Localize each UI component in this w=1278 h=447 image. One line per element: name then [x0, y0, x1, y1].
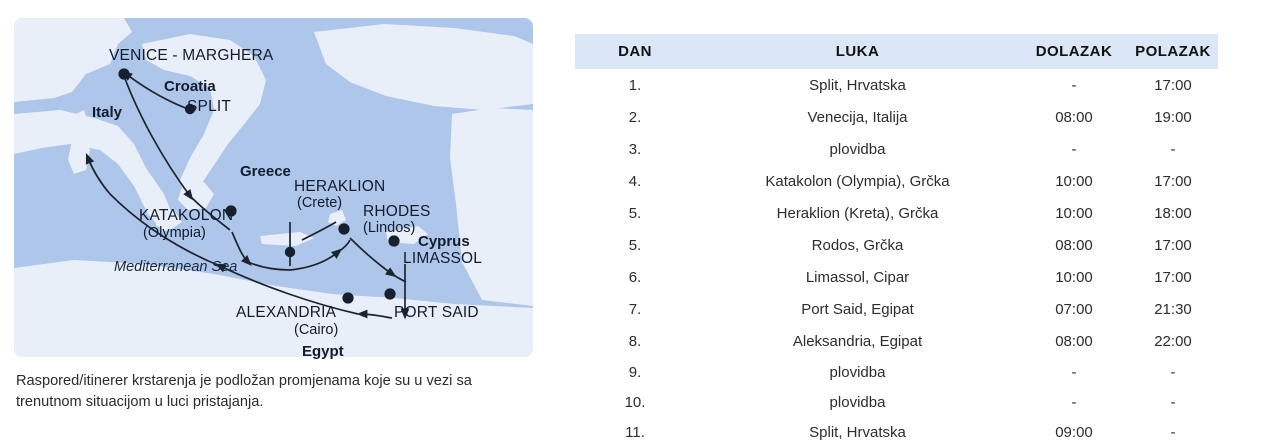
cell-luka: Venecija, Italija	[695, 101, 1020, 133]
cell-dan: 9.	[575, 357, 695, 387]
cell-dolazak: 10:00	[1020, 261, 1128, 293]
cell-luka: Split, Hrvatska	[695, 417, 1020, 447]
cell-luka: plovidba	[695, 357, 1020, 387]
cell-dolazak: 07:00	[1020, 293, 1128, 325]
itinerary-table-head: DAN LUKA DOLAZAK POLAZAK	[575, 34, 1218, 69]
cell-luka: Heraklion (Kreta), Grčka	[695, 197, 1020, 229]
cell-polazak: 19:00	[1128, 101, 1218, 133]
cell-luka: Port Said, Egipat	[695, 293, 1020, 325]
cell-dolazak: 10:00	[1020, 165, 1128, 197]
cell-dan: 8.	[575, 325, 695, 357]
port-dot-heraklion	[285, 247, 295, 257]
cell-dolazak: 08:00	[1020, 229, 1128, 261]
cruise-route-map	[14, 18, 533, 357]
port-dot-alexandria	[342, 292, 353, 303]
cell-dan: 4.	[575, 165, 695, 197]
port-dot-katakolon	[225, 205, 236, 216]
cell-dan: 3.	[575, 133, 695, 165]
table-row: 6.Limassol, Cipar10:0017:00	[575, 261, 1218, 293]
cell-dan: 5.	[575, 197, 695, 229]
cell-luka: plovidba	[695, 133, 1020, 165]
cell-dolazak: 09:00	[1020, 417, 1128, 447]
cell-polazak: -	[1128, 387, 1218, 417]
cell-polazak: -	[1128, 357, 1218, 387]
port-dot-portsaid	[384, 288, 395, 299]
port-dot-limassol	[388, 235, 399, 246]
table-row: 8.Aleksandria, Egipat08:0022:00	[575, 325, 1218, 357]
table-row: 5.Heraklion (Kreta), Grčka10:0018:00	[575, 197, 1218, 229]
cell-luka: Rodos, Grčka	[695, 229, 1020, 261]
cell-dan: 5.	[575, 229, 695, 261]
table-row: 4.Katakolon (Olympia), Grčka10:0017:00	[575, 165, 1218, 197]
cell-polazak: -	[1128, 133, 1218, 165]
itinerary-table-body: 1.Split, Hrvatska-17:002.Venecija, Itali…	[575, 69, 1218, 447]
cell-polazak: 17:00	[1128, 165, 1218, 197]
cell-dan: 2.	[575, 101, 695, 133]
table-row: 3.plovidba--	[575, 133, 1218, 165]
table-row: 1.Split, Hrvatska-17:00	[575, 69, 1218, 101]
map-graphic	[14, 18, 533, 357]
column-header-luka: LUKA	[695, 34, 1020, 69]
cell-dolazak: 08:00	[1020, 325, 1128, 357]
cell-luka: Katakolon (Olympia), Grčka	[695, 165, 1020, 197]
cell-luka: Aleksandria, Egipat	[695, 325, 1020, 357]
cell-dan: 7.	[575, 293, 695, 325]
cell-dan: 6.	[575, 261, 695, 293]
cell-dolazak: 10:00	[1020, 197, 1128, 229]
itinerary-disclaimer: Raspored/itinerer krstarenja je podložan…	[16, 371, 532, 413]
itinerary-panel: DAN LUKA DOLAZAK POLAZAK 1.Split, Hrvats…	[575, 34, 1218, 447]
column-header-dan: DAN	[575, 34, 695, 69]
cell-dan: 10.	[575, 387, 695, 417]
table-row: 9.plovidba--	[575, 357, 1218, 387]
cell-dolazak: -	[1020, 133, 1128, 165]
table-row: 7.Port Said, Egipat07:0021:30	[575, 293, 1218, 325]
cell-dan: 11.	[575, 417, 695, 447]
itinerary-table: DAN LUKA DOLAZAK POLAZAK 1.Split, Hrvats…	[575, 34, 1218, 447]
cruise-map-panel: VENICE - MARGHERA Croatia SPLIT Italy Gr…	[14, 18, 533, 357]
cell-polazak: -	[1128, 417, 1218, 447]
port-dot-split	[185, 104, 195, 114]
port-dot-rhodes	[338, 223, 349, 234]
cell-luka: plovidba	[695, 387, 1020, 417]
port-dot-venice	[118, 68, 129, 79]
cell-polazak: 17:00	[1128, 261, 1218, 293]
cell-dolazak: -	[1020, 387, 1128, 417]
cell-polazak: 22:00	[1128, 325, 1218, 357]
cell-dolazak: 08:00	[1020, 101, 1128, 133]
cell-dolazak: -	[1020, 69, 1128, 101]
cell-polazak: 17:00	[1128, 69, 1218, 101]
column-header-polazak: POLAZAK	[1128, 34, 1218, 69]
cell-luka: Split, Hrvatska	[695, 69, 1020, 101]
cell-dan: 1.	[575, 69, 695, 101]
cell-polazak: 17:00	[1128, 229, 1218, 261]
table-row: 2.Venecija, Italija08:0019:00	[575, 101, 1218, 133]
cell-polazak: 18:00	[1128, 197, 1218, 229]
cell-polazak: 21:30	[1128, 293, 1218, 325]
table-row: 5.Rodos, Grčka08:0017:00	[575, 229, 1218, 261]
cell-dolazak: -	[1020, 357, 1128, 387]
cell-luka: Limassol, Cipar	[695, 261, 1020, 293]
table-row: 10.plovidba--	[575, 387, 1218, 417]
column-header-dolazak: DOLAZAK	[1020, 34, 1128, 69]
table-header-row: DAN LUKA DOLAZAK POLAZAK	[575, 34, 1218, 69]
table-row: 11.Split, Hrvatska09:00-	[575, 417, 1218, 447]
